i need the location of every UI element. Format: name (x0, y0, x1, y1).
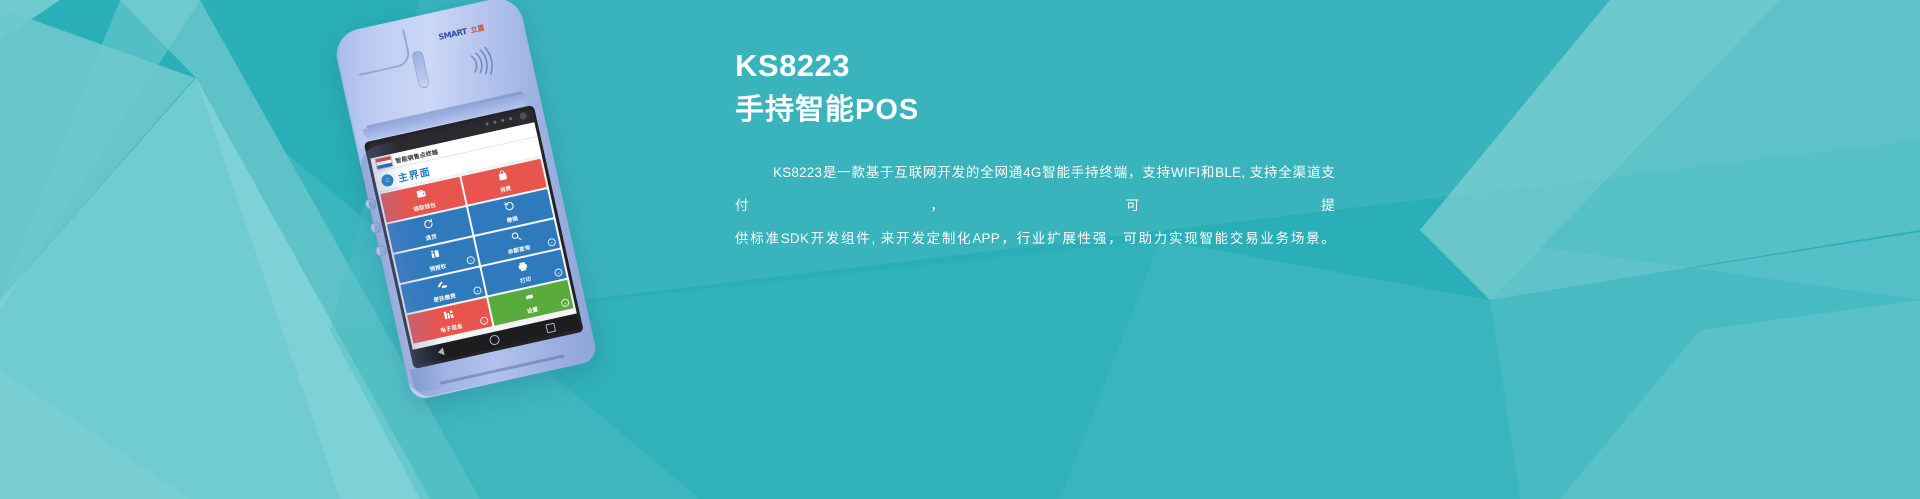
page-title: KS8223 (735, 46, 1355, 87)
back-icon[interactable] (437, 347, 445, 356)
product-banner: SMART 立嘉 (0, 0, 1920, 499)
ecash-icon (442, 308, 456, 324)
power-button[interactable]: ⏻ (364, 198, 377, 211)
balance-icon (510, 230, 524, 246)
wallet-icon (415, 187, 429, 203)
card-reader-slot (362, 180, 368, 199)
app-tile-label: 设置 (526, 305, 539, 315)
app-tile-label: 电子现金 (439, 322, 463, 335)
app-tile-label: 消费 (499, 184, 512, 194)
app-tile-badge: + (479, 316, 489, 326)
app-tile-badge: + (473, 286, 483, 296)
description-line-1: KS8223是一款基于互联网开发的全网通4G智能手持终端，支持WIFI和BLE,… (735, 156, 1335, 222)
app-tile-label: 领取钱包 (413, 201, 437, 214)
sensor-dot (493, 120, 497, 124)
product-image: SMART 立嘉 (330, 0, 630, 420)
preauth-icon (429, 248, 443, 264)
copy-block: KS8223 手持智能POS KS8223是一款基于互联网开发的全网通4G智能手… (735, 46, 1355, 255)
app-tile-badge: + (547, 238, 557, 248)
app-tile-label: 便民缴费 (433, 291, 457, 304)
app-tile-label: 撤销 (506, 214, 519, 224)
description-line-2: 供标准SDK开发组件, 来开发定制化APP，行业扩展性强，可助力实现智能交易业务… (735, 222, 1335, 255)
app-tile-badge: + (560, 298, 570, 308)
home-circle-icon[interactable] (489, 334, 501, 346)
refund-icon (422, 217, 436, 233)
app-tile-badge: + (466, 255, 476, 265)
home-icon[interactable]: ⌂ (380, 173, 394, 187)
app-tile-label: 余额查询 (507, 243, 531, 256)
sensor-dot (501, 119, 505, 123)
sensor-dot (509, 117, 513, 121)
page-subtitle: 手持智能POS (735, 91, 1355, 130)
app-tile-badge: + (554, 268, 564, 278)
settings-icon (523, 290, 537, 306)
front-camera (519, 112, 527, 120)
void-icon (503, 200, 517, 216)
recent-apps-icon[interactable] (545, 322, 556, 333)
bank-card-logo-icon (374, 155, 393, 170)
purchase-icon (496, 169, 510, 185)
printer-icon (516, 260, 530, 276)
product-description: KS8223是一款基于互联网开发的全网通4G智能手持终端，支持WIFI和BLE,… (735, 156, 1335, 255)
pos-terminal: SMART 立嘉 (332, 0, 599, 401)
function-button[interactable] (375, 244, 388, 257)
payment-icon (435, 278, 449, 294)
volume-button[interactable]: ♪ (369, 221, 382, 234)
sensor-dot (485, 122, 489, 126)
app-tile-label: 退货 (425, 232, 438, 242)
app-tile-label: 打印 (519, 275, 532, 285)
